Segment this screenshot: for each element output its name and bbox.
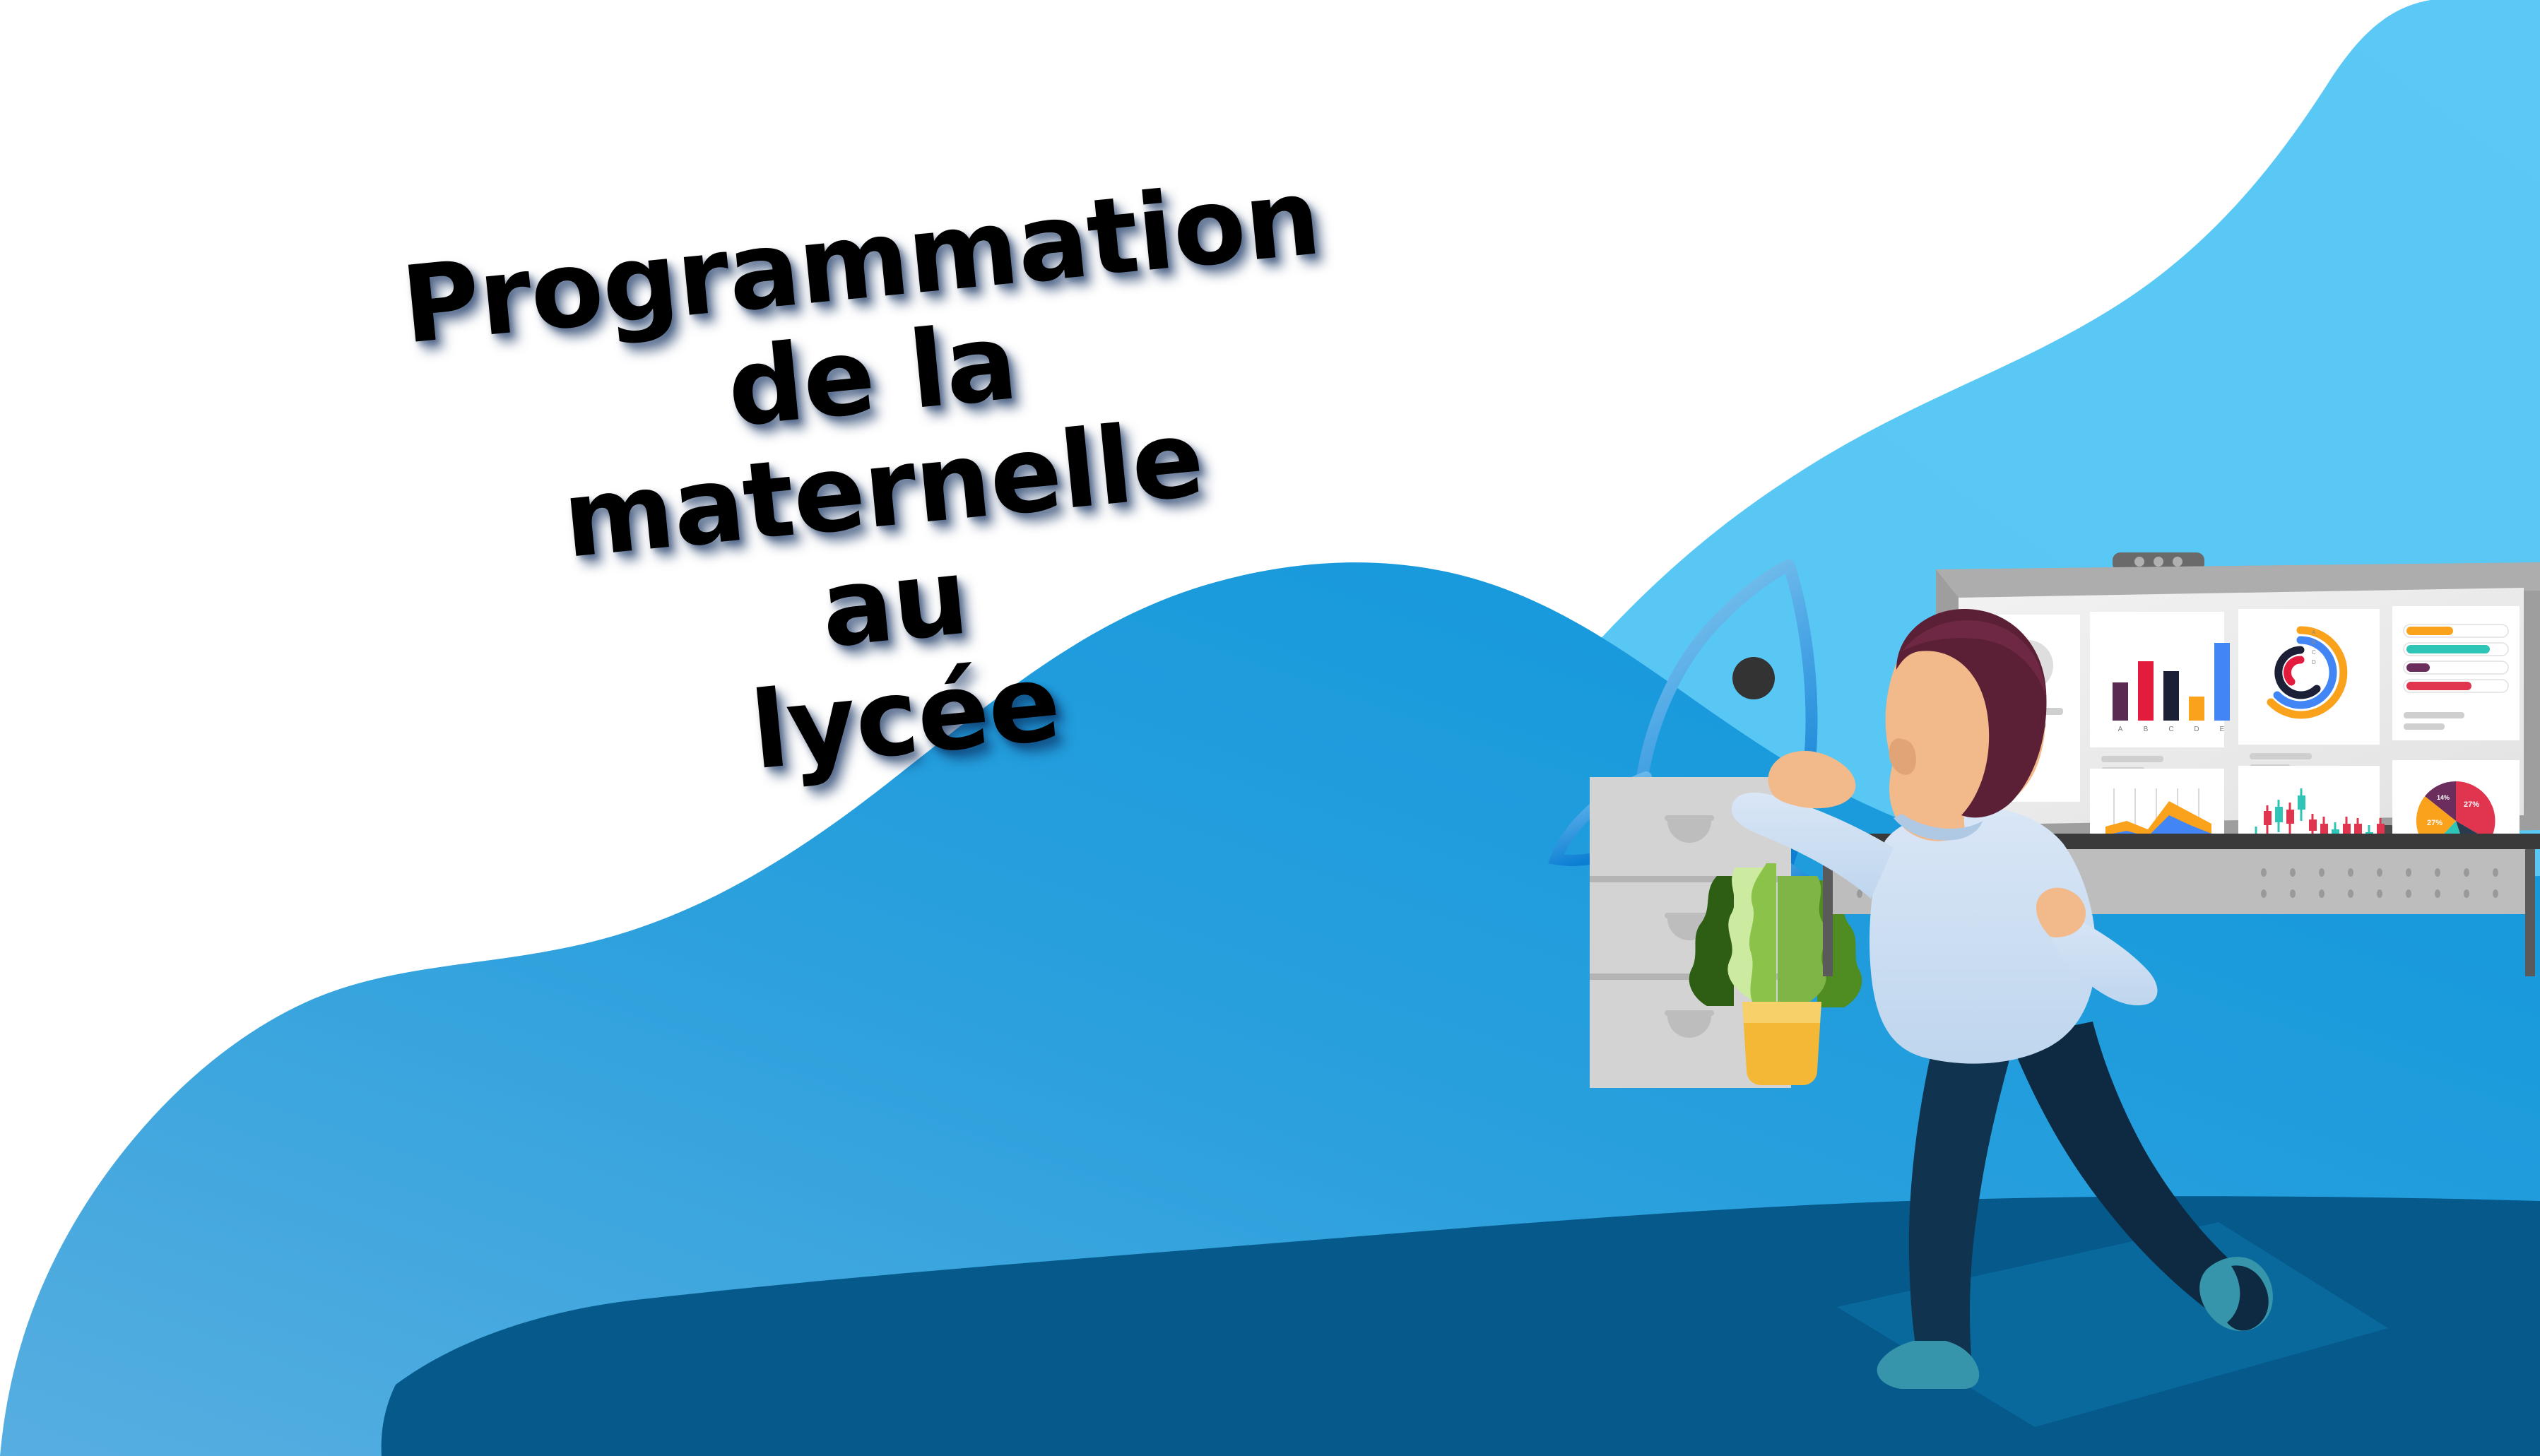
svg-text:E: E [2220,726,2225,733]
progress-bars-card[interactable] [2392,606,2520,740]
svg-text:D: D [2312,659,2316,665]
slide-canvas: Programmation de la maternelle au lycée [0,0,2540,1456]
svg-text:27%: 27% [2427,819,2442,827]
svg-text:A: A [2312,629,2316,636]
svg-text:27%: 27% [2464,800,2479,809]
svg-text:C: C [2168,726,2173,733]
svg-text:A: A [2118,726,2123,733]
svg-text:D: D [2194,726,2199,733]
svg-text:14%: 14% [2437,794,2450,801]
office-illustration: A B C D E A B C [1540,544,2540,1456]
rocket-porthole-icon [1732,657,1775,699]
svg-text:B: B [2144,726,2149,733]
svg-text:C: C [2312,649,2316,656]
svg-text:B: B [2312,639,2315,646]
hand-on-head [1768,751,1855,808]
